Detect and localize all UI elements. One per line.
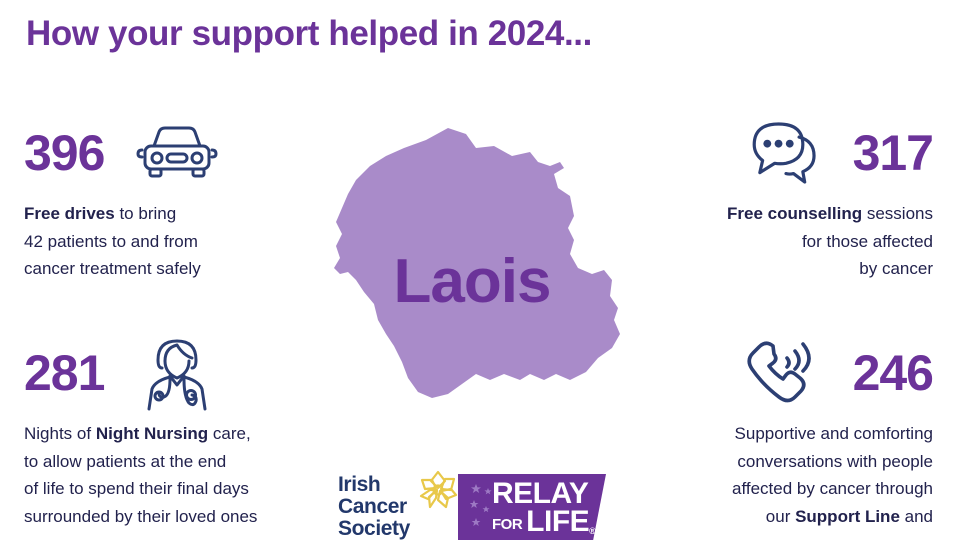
stat-line-post: care, — [208, 424, 251, 443]
irish-cancer-society-logo: Irish Cancer Society — [338, 474, 450, 539]
stat-number-night-nursing: 281 — [24, 348, 104, 398]
logo-row: Irish Cancer Society — [338, 474, 606, 540]
stat-description-support-line: Supportive and comforting conversations … — [633, 420, 933, 530]
stat-line-rest: sessions — [862, 204, 933, 223]
stat-line-post: and — [900, 507, 933, 526]
stat-line: Free counselling sessions — [633, 200, 933, 228]
stat-line-bold: Free counselling — [727, 204, 862, 223]
stat-line-bold: Night Nursing — [96, 424, 208, 443]
stat-line-pre: our — [766, 507, 795, 526]
stat-line: of life to spend their final days — [24, 475, 324, 503]
ringing-phone-icon — [743, 335, 829, 411]
stat-header-free-drives: 396 — [24, 112, 324, 194]
daffodil-icon — [416, 468, 460, 515]
stat-number-free-drives: 396 — [24, 128, 104, 178]
page-title: How your support helped in 2024... — [26, 14, 592, 54]
stat-description-counselling: Free counselling sessions for those affe… — [633, 200, 933, 283]
infographic-page: How your support helped in 2024... 396 — [0, 0, 957, 540]
stat-block-free-drives: 396 Free driv — [24, 112, 324, 283]
stat-line: Free drives to bring — [24, 200, 324, 228]
relay-for-life-logo: RELAY FOR LIFE ® — [458, 474, 606, 540]
speech-bubbles-icon — [743, 115, 829, 191]
stat-line-pre: Nights of — [24, 424, 96, 443]
relay-logo-for: FOR — [492, 518, 522, 532]
relay-logo-line2: LIFE — [526, 508, 589, 536]
stat-line-rest: to bring — [115, 204, 176, 223]
stat-description-free-drives: Free drives to bring 42 patients to and … — [24, 200, 324, 283]
stat-header-support-line: 246 — [633, 332, 933, 414]
stat-line-bold: Support Line — [795, 507, 900, 526]
relay-logo-line1: RELAY — [492, 480, 595, 508]
stat-line: cancer treatment safely — [24, 255, 324, 283]
stat-line: to allow patients at the end — [24, 448, 324, 476]
stat-line: for those affected — [633, 228, 933, 256]
relay-logo-trademark: ® — [589, 527, 595, 535]
stat-line: Nights of Night Nursing care, — [24, 420, 324, 448]
stat-header-counselling: 317 — [633, 112, 933, 194]
stat-block-support-line: 246 Supportive and comforting conversati… — [633, 332, 933, 530]
nurse-icon — [134, 335, 220, 411]
stat-line: by cancer — [633, 255, 933, 283]
stat-line: Supportive and comforting — [633, 420, 933, 448]
stat-line: conversations with people — [633, 448, 933, 476]
stat-number-support-line: 246 — [853, 348, 933, 398]
stat-number-counselling: 317 — [853, 128, 933, 178]
stat-description-night-nursing: Nights of Night Nursing care, to allow p… — [24, 420, 324, 530]
stat-header-night-nursing: 281 — [24, 332, 324, 414]
county-laois-shape — [298, 122, 646, 412]
stat-line: 42 patients to and from — [24, 228, 324, 256]
stat-block-night-nursing: 281 — [24, 332, 324, 530]
logo-ics-line3: Society — [338, 518, 450, 540]
stat-line: affected by cancer through — [633, 475, 933, 503]
stat-line-bold: Free drives — [24, 204, 115, 223]
car-icon — [134, 115, 220, 191]
county-map: Laois — [298, 122, 646, 412]
stat-block-counselling: 317 Free counselling sessions for those … — [633, 112, 933, 283]
stat-line: our Support Line and — [633, 503, 933, 531]
stat-line: surrounded by their loved ones — [24, 503, 324, 531]
